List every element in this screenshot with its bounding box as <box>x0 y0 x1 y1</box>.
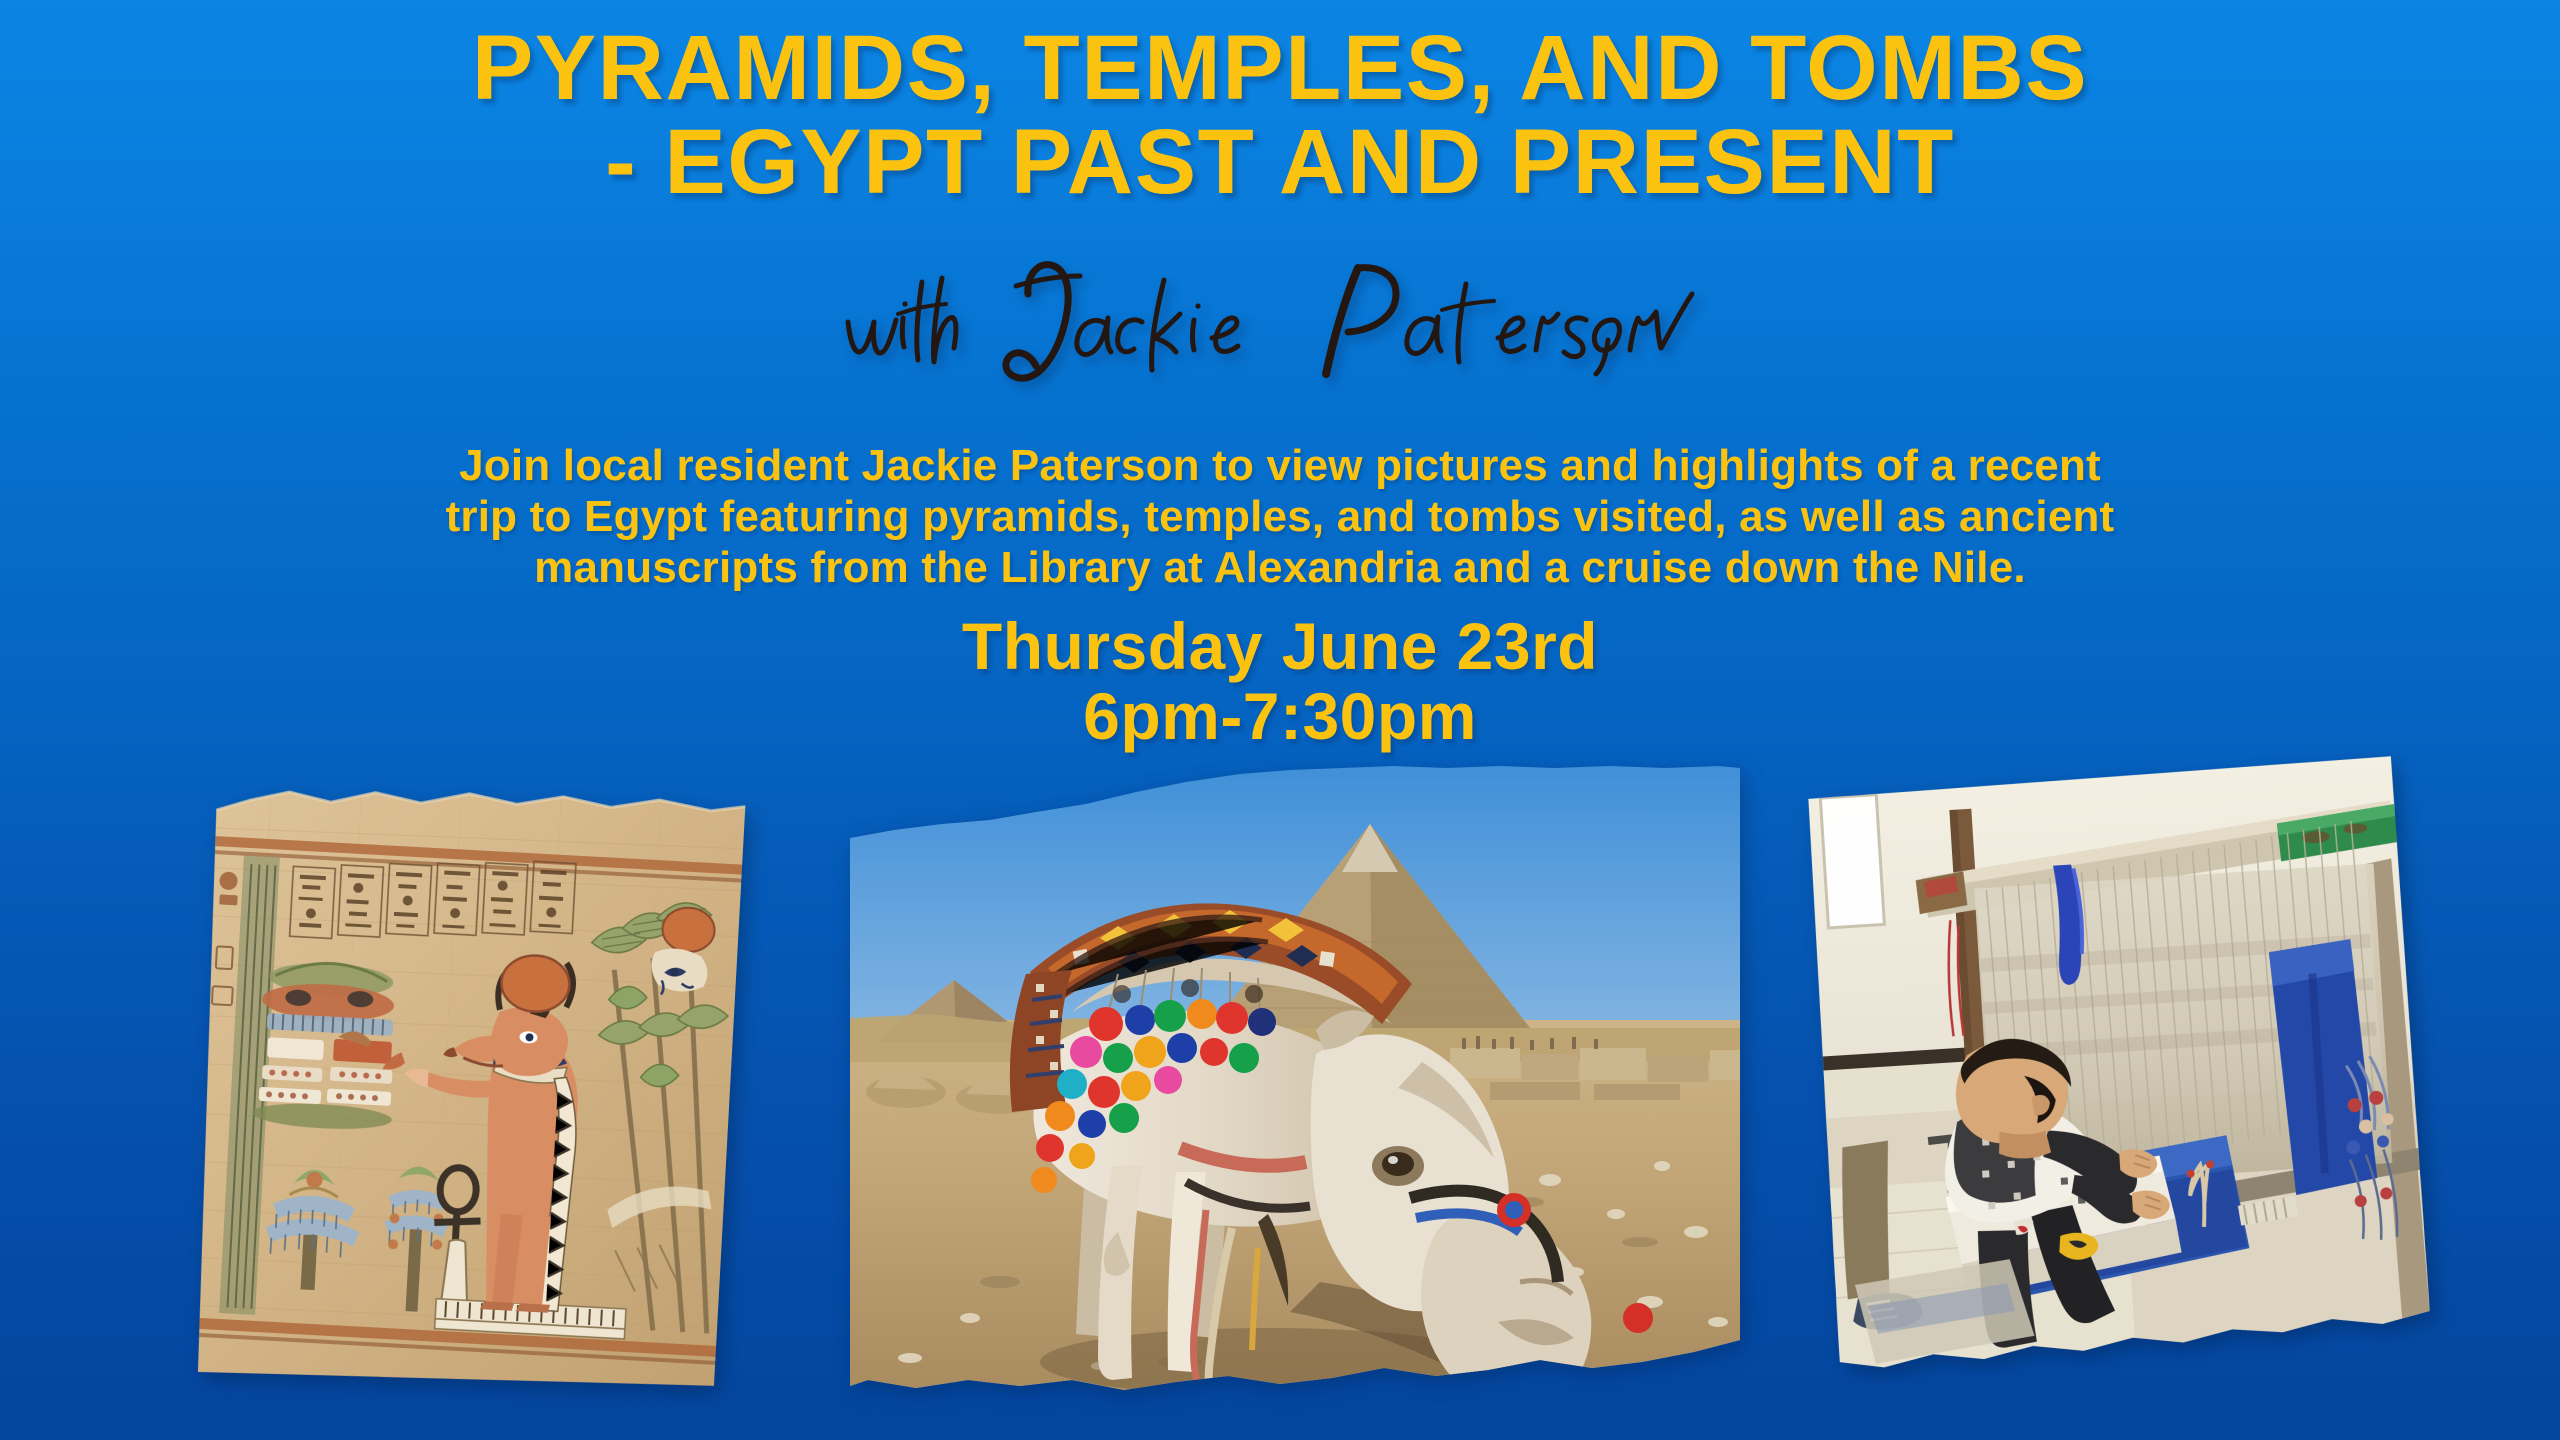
handwritten-signature-icon: with Jackie Paterson <box>830 252 1730 382</box>
i-dot <box>902 301 907 306</box>
page-title: PYRAMIDS, TEMPLES, AND TOMBS - EGYPT PAS… <box>0 22 2560 210</box>
event-schedule: Thursday June 23rd 6pm-7:30pm <box>0 612 2560 752</box>
blurb-line-3: manuscripts from the Library at Alexandr… <box>300 542 2260 593</box>
weaving-workshop-scene <box>1800 752 2436 1388</box>
event-poster: PYRAMIDS, TEMPLES, AND TOMBS - EGYPT PAS… <box>0 0 2560 1440</box>
papyrus-photo <box>180 758 753 1406</box>
blurb-line-1: Join local resident Jackie Paterson to v… <box>300 440 2260 491</box>
i-dot-2 <box>1195 303 1200 308</box>
event-date: Thursday June 23rd <box>0 612 2560 682</box>
title-line-2: - EGYPT PAST AND PRESENT <box>0 116 2560 210</box>
title-line-1: PYRAMIDS, TEMPLES, AND TOMBS <box>0 22 2560 116</box>
event-description: Join local resident Jackie Paterson to v… <box>300 440 2260 593</box>
presenter-signature: with Jackie Paterson <box>0 252 2560 387</box>
loom-photo <box>1800 752 2436 1388</box>
papyrus-surface <box>180 758 753 1406</box>
camel-scene <box>850 762 1740 1402</box>
event-time: 6pm-7:30pm <box>0 682 2560 752</box>
camel-photo <box>850 762 1740 1402</box>
blurb-line-2: trip to Egypt featuring pyramids, temple… <box>300 491 2260 542</box>
